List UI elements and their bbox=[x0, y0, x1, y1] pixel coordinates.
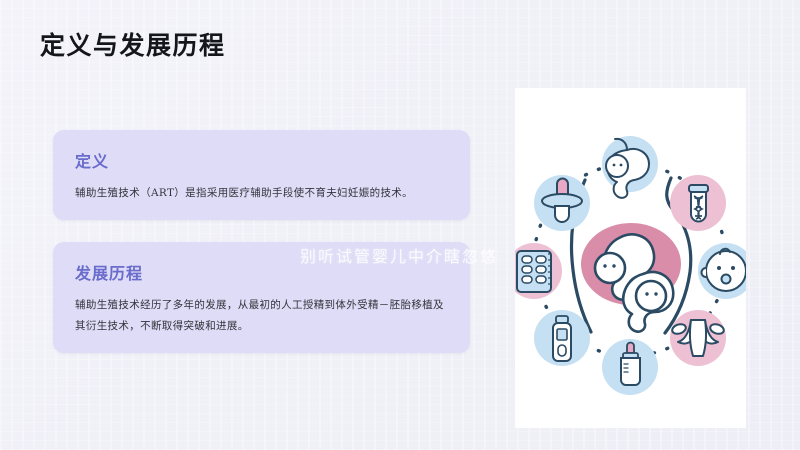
baby-bottle-icon bbox=[602, 339, 658, 395]
illustration-panel bbox=[515, 88, 746, 428]
card-history-body: 辅助生殖技术经历了多年的发展，从最初的人工授精到体外受精－胚胎移植及其衍生技术，… bbox=[75, 295, 448, 336]
pill-blister-pack-icon bbox=[515, 243, 562, 299]
content-card-list: 定义 辅助生殖技术（ART）是指采用医疗辅助手段使不育夫妇妊娠的技术。 发展历程… bbox=[53, 130, 470, 353]
uterus-icon bbox=[670, 310, 726, 366]
card-definition: 定义 辅助生殖技术（ART）是指采用医疗辅助手段使不育夫妇妊娠的技术。 bbox=[53, 130, 470, 220]
page-title: 定义与发展历程 bbox=[40, 31, 226, 61]
card-definition-heading: 定义 bbox=[75, 148, 448, 172]
card-history: 发展历程 辅助生殖技术经历了多年的发展，从最初的人工授精到体外受精－胚胎移植及其… bbox=[53, 242, 470, 353]
fetus-icon bbox=[602, 136, 658, 198]
dna-test-tube-icon bbox=[670, 175, 726, 231]
pacifier-icon bbox=[534, 175, 590, 231]
baby-face-icon bbox=[698, 243, 746, 299]
pregnancy-test-icon bbox=[534, 310, 590, 366]
slide-canvas: 定义与发展历程 定义 辅助生殖技术（ART）是指采用医疗辅助手段使不育夫妇妊娠的… bbox=[0, 0, 800, 450]
card-history-heading: 发展历程 bbox=[75, 260, 448, 284]
fertility-illustration bbox=[515, 88, 746, 428]
card-definition-body: 辅助生殖技术（ART）是指采用医疗辅助手段使不育夫妇妊娠的技术。 bbox=[75, 183, 448, 203]
